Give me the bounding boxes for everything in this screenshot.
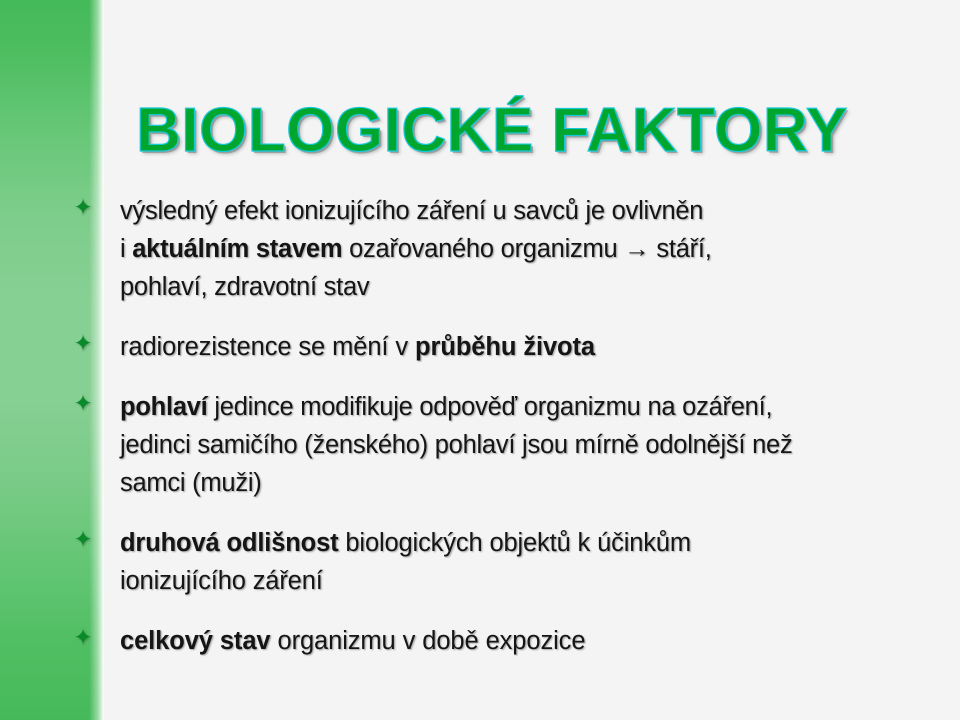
plain-text: biologických objektů k účinkům bbox=[338, 529, 691, 557]
plain-text: radiorezistence se mění v bbox=[120, 333, 415, 361]
four-pointed-star-icon: ✦ bbox=[72, 330, 94, 356]
list-item-line: jedinci samičího (ženského) pohlaví jsou… bbox=[120, 431, 792, 459]
list-item-line: pohlaví, zdravotní stav bbox=[120, 273, 369, 301]
emphasis-text: průběhu života bbox=[415, 333, 595, 361]
four-pointed-star-icon: ✦ bbox=[72, 390, 94, 416]
list-item-line: radiorezistence se mění v průběhu života bbox=[120, 333, 595, 361]
plain-text: organizmu v době expozice bbox=[271, 627, 586, 655]
list-item-text: výsledný efekt ionizujícího záření u sav… bbox=[120, 192, 920, 306]
plain-text: jedinci samičího (ženského) pohlaví jsou… bbox=[120, 431, 792, 459]
list-item-line: druhová odlišnost biologických objektů k… bbox=[120, 529, 691, 557]
plain-text: jedince modifikuje odpověď organizmu na … bbox=[208, 393, 773, 421]
list-item-text: celkový stav organizmu v době expozice bbox=[120, 622, 920, 660]
emphasis-text: pohlaví bbox=[120, 393, 208, 421]
bullet-list: ✦výsledný efekt ionizujícího záření u sa… bbox=[0, 192, 960, 660]
four-pointed-star-icon: ✦ bbox=[72, 624, 94, 650]
list-item-line: ionizujícího záření bbox=[120, 567, 323, 595]
plain-text: ionizujícího záření bbox=[120, 567, 323, 595]
plain-text: pohlaví, zdravotní stav bbox=[120, 273, 369, 301]
list-item-line: pohlaví jedince modifikuje odpověď organ… bbox=[120, 393, 772, 421]
list-item: ✦radiorezistence se mění v průběhu život… bbox=[0, 328, 960, 366]
list-item: ✦výsledný efekt ionizujícího záření u sa… bbox=[0, 192, 960, 306]
plain-text: i bbox=[120, 235, 132, 263]
four-pointed-star-icon: ✦ bbox=[72, 194, 94, 220]
plain-text: ozařovaného organizmu → stáří, bbox=[342, 235, 711, 263]
plain-text: výsledný efekt ionizujícího záření u sav… bbox=[120, 197, 703, 225]
page-title: BIOLOGICKÉ FAKTORY bbox=[0, 94, 960, 168]
four-pointed-star-icon: ✦ bbox=[72, 526, 94, 552]
list-item-line: celkový stav organizmu v době expozice bbox=[120, 627, 585, 655]
list-item: ✦celkový stav organizmu v době expozice bbox=[0, 622, 960, 660]
list-item-line: výsledný efekt ionizujícího záření u sav… bbox=[120, 197, 703, 225]
list-item: ✦pohlaví jedince modifikuje odpověď orga… bbox=[0, 388, 960, 502]
list-item-line: samci (muži) bbox=[120, 469, 262, 497]
list-item-text: pohlaví jedince modifikuje odpověď organ… bbox=[120, 388, 920, 502]
list-item-line: i aktuálním stavem ozařovaného organizmu… bbox=[120, 235, 712, 263]
plain-text: samci (muži) bbox=[120, 469, 262, 497]
list-item-text: radiorezistence se mění v průběhu života bbox=[120, 328, 920, 366]
emphasis-text: celkový stav bbox=[120, 627, 271, 655]
emphasis-text: aktuálním stavem bbox=[132, 235, 342, 263]
list-item: ✦druhová odlišnost biologických objektů … bbox=[0, 524, 960, 600]
slide-canvas: BIOLOGICKÉ FAKTORY ✦výsledný efekt ioniz… bbox=[0, 0, 960, 720]
emphasis-text: druhová odlišnost bbox=[120, 529, 338, 557]
list-item-text: druhová odlišnost biologických objektů k… bbox=[120, 524, 920, 600]
